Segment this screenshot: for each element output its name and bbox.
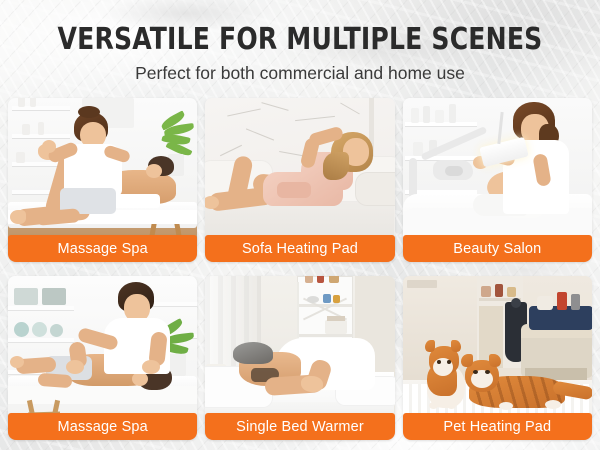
card-beauty-salon[interactable]: Beauty Salon bbox=[403, 98, 592, 262]
caption-bar: Single Bed Warmer bbox=[205, 413, 394, 440]
caption-bar: Sofa Heating Pad bbox=[205, 235, 394, 262]
caption-label: Beauty Salon bbox=[453, 241, 541, 257]
card-massage-spa-2[interactable]: Massage Spa bbox=[8, 276, 197, 440]
page-subtitle: Perfect for both commercial and home use bbox=[0, 56, 600, 83]
caption-label: Massage Spa bbox=[58, 241, 148, 257]
infographic-page: VERSATILE FOR MULTIPLE SCENES Perfect fo… bbox=[0, 0, 600, 450]
photo-sofa-heating-pad bbox=[205, 98, 394, 256]
caption-label: Pet Heating Pad bbox=[443, 419, 551, 435]
caption-bar: Massage Spa bbox=[8, 235, 197, 262]
photo-pet-heating-pad bbox=[403, 276, 592, 434]
grid-row: Massage Spa bbox=[8, 98, 592, 262]
photo-massage-spa-2 bbox=[8, 276, 197, 434]
caption-label: Massage Spa bbox=[58, 419, 148, 435]
card-pet-heating-pad[interactable]: Pet Heating Pad bbox=[403, 276, 592, 440]
caption-label: Sofa Heating Pad bbox=[242, 241, 358, 257]
photo-single-bed-warmer bbox=[205, 276, 394, 434]
grid-row: Massage Spa bbox=[8, 276, 592, 440]
header: VERSATILE FOR MULTIPLE SCENES Perfect fo… bbox=[0, 0, 600, 83]
scene-grid: Massage Spa bbox=[8, 98, 592, 440]
photo-beauty-salon bbox=[403, 98, 592, 256]
card-single-bed-warmer[interactable]: Single Bed Warmer bbox=[205, 276, 394, 440]
caption-bar: Beauty Salon bbox=[403, 235, 592, 262]
page-title: VERSATILE FOR MULTIPLE SCENES bbox=[21, 0, 579, 56]
card-sofa-heating-pad[interactable]: Sofa Heating Pad bbox=[205, 98, 394, 262]
caption-bar: Massage Spa bbox=[8, 413, 197, 440]
caption-label: Single Bed Warmer bbox=[236, 419, 364, 435]
caption-bar: Pet Heating Pad bbox=[403, 413, 592, 440]
photo-massage-spa-1 bbox=[8, 98, 197, 256]
card-massage-spa-1[interactable]: Massage Spa bbox=[8, 98, 197, 262]
